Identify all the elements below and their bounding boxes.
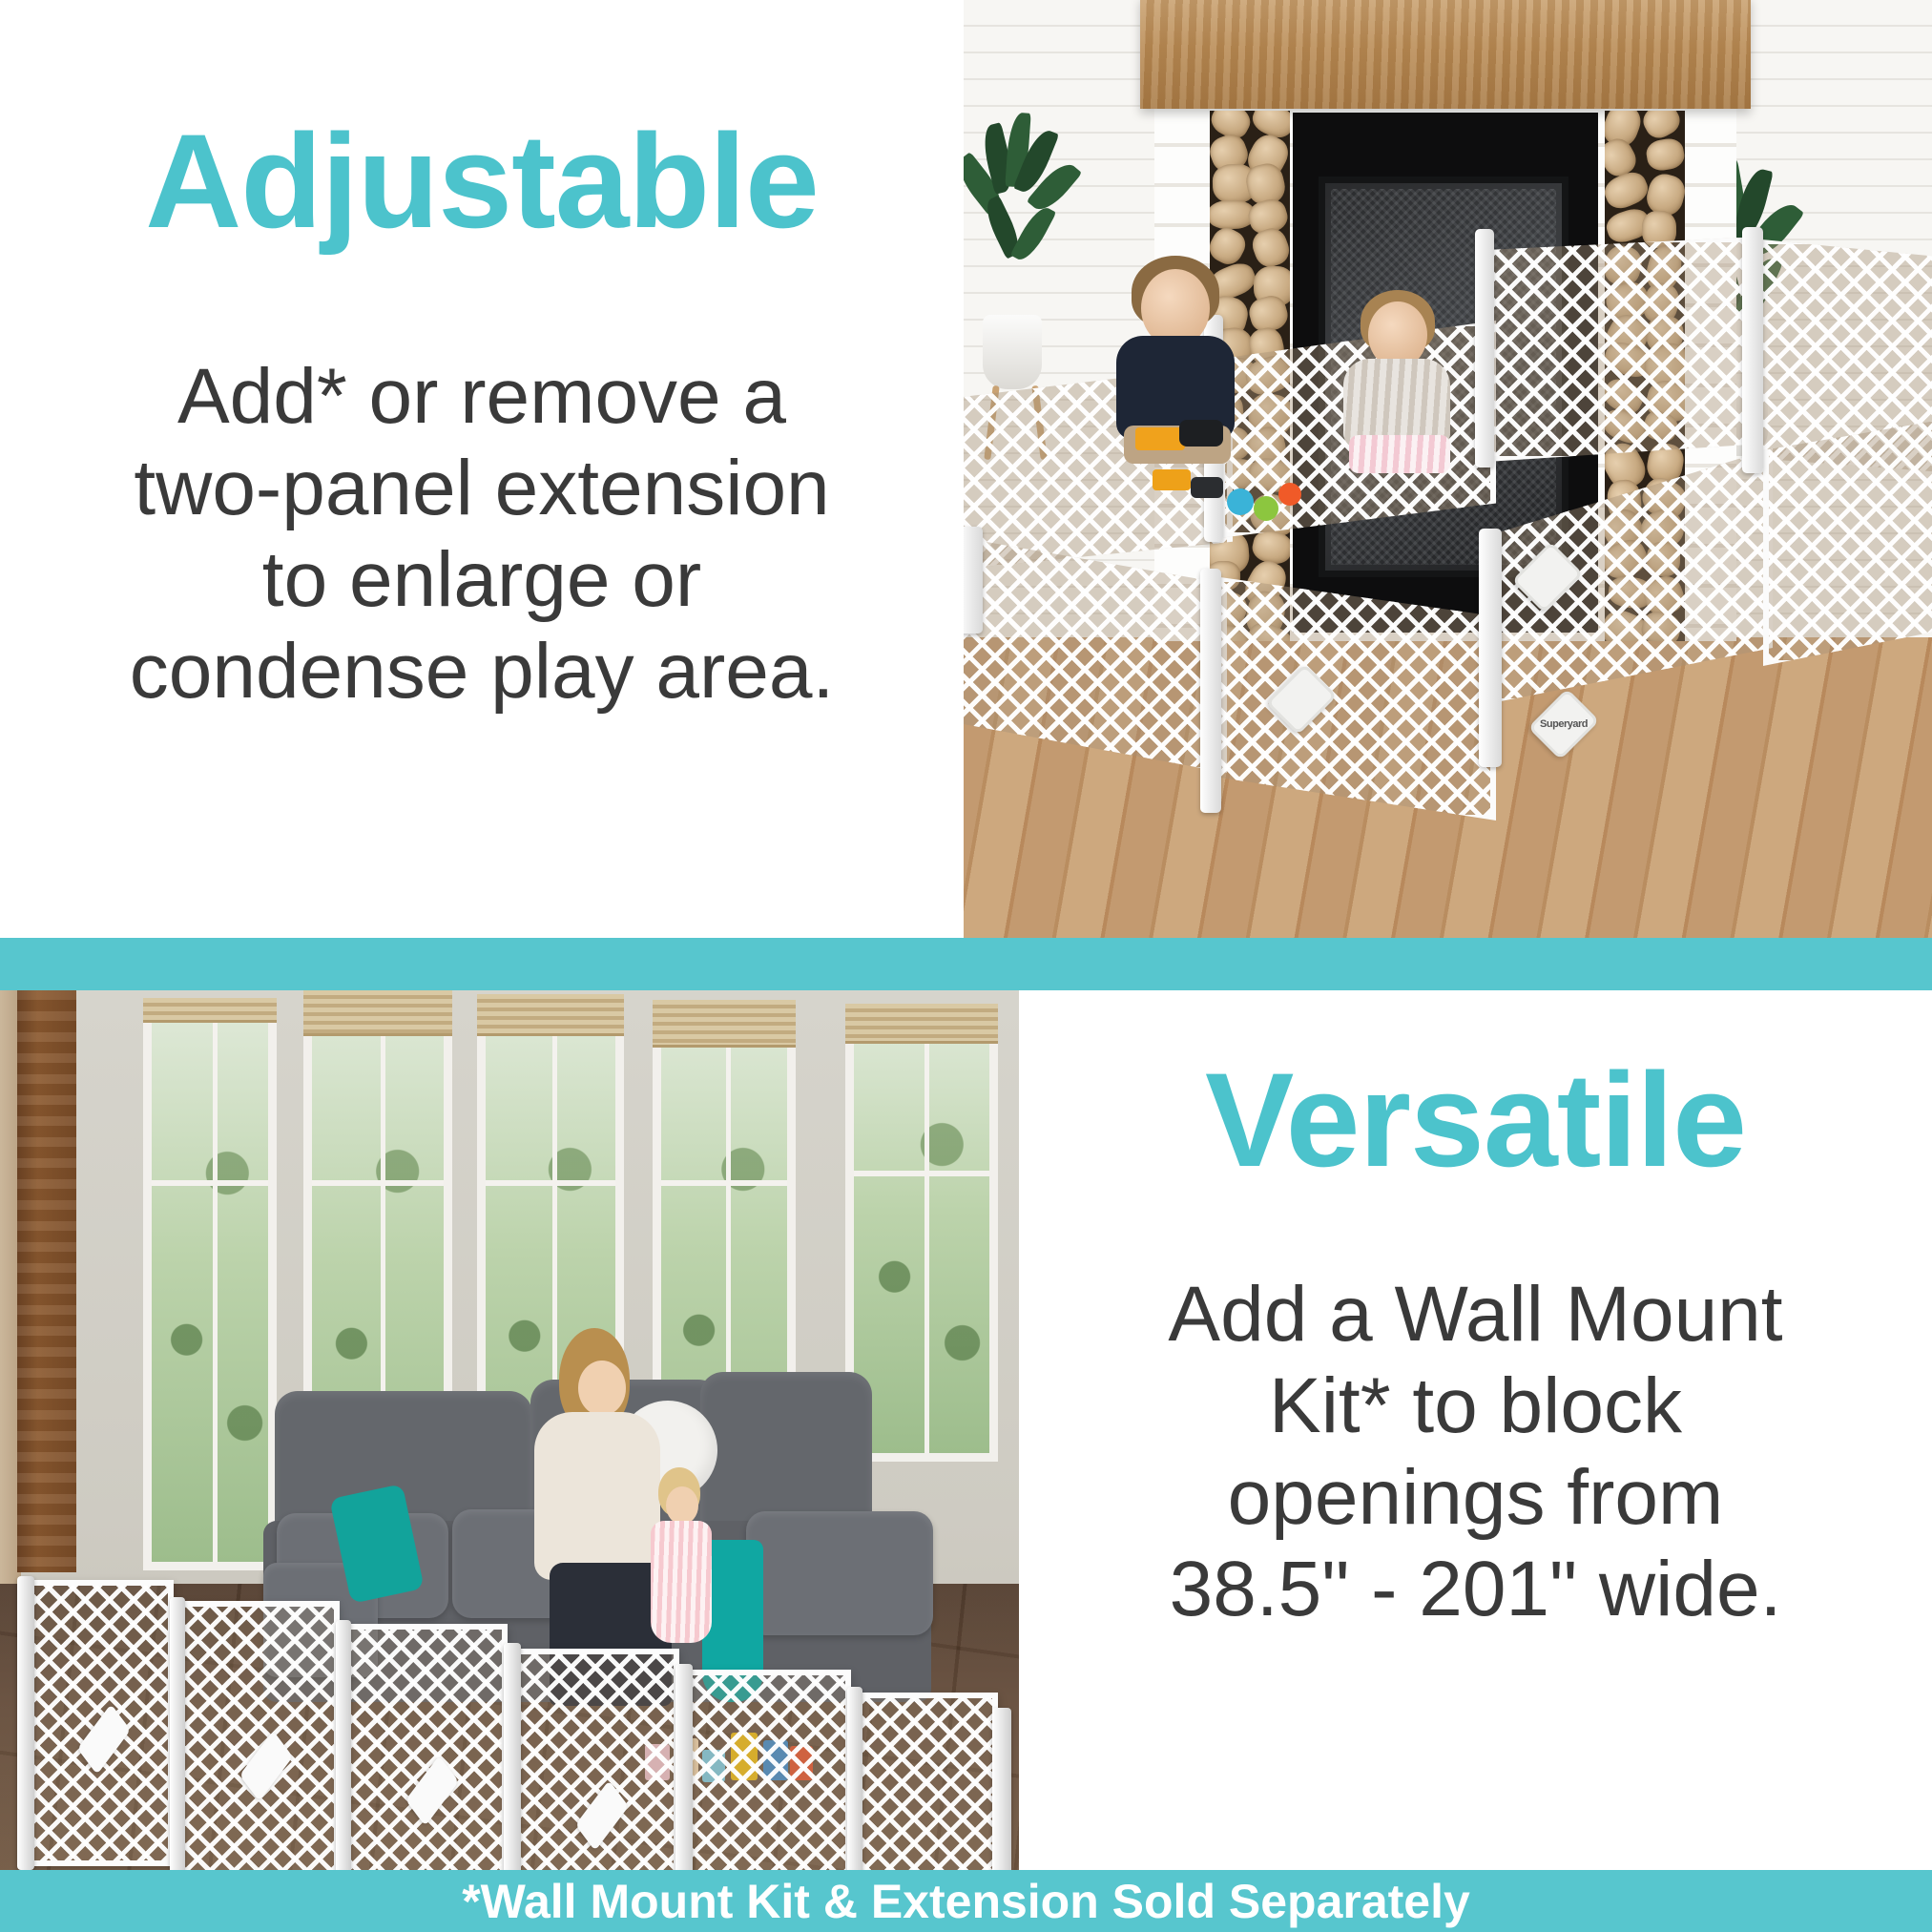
window-shade	[143, 998, 277, 1023]
versatile-text-panel: Versatile Add a Wall Mount Kit* to block…	[1019, 990, 1932, 1870]
sofa-chaise-cushion	[746, 1511, 933, 1635]
versatile-body-line-1: Add a Wall Mount	[1168, 1269, 1782, 1361]
window-mullion	[312, 1180, 444, 1186]
gate-panel-2	[177, 1601, 340, 1870]
gate-hinge	[336, 1620, 351, 1870]
toy	[1135, 427, 1185, 450]
dark-wood-post	[17, 990, 76, 1572]
pen-post-back-b	[1475, 229, 1494, 467]
pen-panel-back-center	[1486, 237, 1761, 462]
toy	[1227, 488, 1254, 515]
pen-panel-right-side	[1763, 416, 1932, 666]
window-mullion	[924, 1012, 929, 1453]
toy	[1254, 496, 1278, 521]
mother-face	[578, 1361, 626, 1416]
window-shade	[303, 990, 452, 1036]
pen-post-front-a	[1200, 569, 1221, 813]
firewood-log	[1645, 136, 1685, 173]
adjustable-body-line-1: Add* or remove a	[130, 351, 835, 443]
pen-post-corner-left	[964, 527, 983, 634]
adjustable-body-line-3: to enlarge or	[130, 534, 835, 626]
window-mullion	[213, 1007, 218, 1562]
footer-disclaimer-text: *Wall Mount Kit & Extension Sold Separat…	[462, 1874, 1470, 1929]
gate-end-post	[992, 1708, 1011, 1870]
adjustable-body-copy: Add* or remove a two-panel extension to …	[130, 351, 835, 717]
window-mullion	[661, 1180, 787, 1186]
window-mullion	[486, 1180, 615, 1186]
toy	[1191, 477, 1223, 498]
window-glass	[854, 1012, 989, 1453]
window-shade	[653, 1000, 796, 1048]
baby-dress	[651, 1521, 712, 1643]
versatile-heading: Versatile	[1205, 1053, 1746, 1187]
child-skirt	[1349, 435, 1450, 473]
baby-face	[666, 1486, 698, 1525]
window-shade	[477, 994, 624, 1036]
gate-panel-5	[683, 1670, 851, 1870]
gate-panel-6	[855, 1693, 998, 1870]
window-mullion	[152, 1180, 268, 1186]
firewood-log	[1210, 223, 1250, 269]
toy	[1179, 420, 1223, 447]
adjustable-body-line-2: two-panel extension	[130, 443, 835, 534]
window-mullion	[854, 1171, 989, 1176]
gate-hinge	[170, 1597, 185, 1870]
wood-mantel-beam	[1140, 0, 1751, 109]
gate-hinge	[504, 1643, 521, 1870]
footer-disclaimer-bar: *Wall Mount Kit & Extension Sold Separat…	[0, 1870, 1932, 1932]
adjustable-text-panel: Adjustable Add* or remove a two-panel ex…	[0, 0, 964, 938]
window-shade	[845, 1004, 998, 1044]
gate-hinge	[847, 1687, 862, 1870]
versatile-body-line-2: Kit* to block	[1168, 1361, 1782, 1452]
window	[143, 998, 277, 1570]
teal-divider-band	[0, 938, 1932, 990]
gate-hinge	[17, 1576, 34, 1870]
sofa-backrest	[700, 1372, 872, 1530]
gate-panel-3	[343, 1624, 508, 1870]
window-glass	[152, 1007, 268, 1562]
toy	[1278, 483, 1301, 506]
adjustable-body-line-4: condense play area.	[130, 626, 835, 717]
mother-torso	[534, 1412, 660, 1580]
sunroom-gate-photo	[0, 990, 1019, 1870]
gate-hinge	[675, 1664, 693, 1870]
infographic-canvas: Adjustable Add* or remove a two-panel ex…	[0, 0, 1932, 1932]
versatile-body-line-3: openings from	[1168, 1452, 1782, 1544]
versatile-body-copy: Add a Wall Mount Kit* to block openings …	[1168, 1269, 1782, 1635]
pen-brand-label: Superyard	[1544, 699, 1584, 749]
versatile-body-line-4: 38.5" - 201" wide.	[1168, 1544, 1782, 1635]
adjustable-heading: Adjustable	[145, 114, 819, 248]
toy	[1153, 469, 1191, 490]
pen-post-front-b	[1479, 529, 1502, 767]
pen-post-back-c	[1742, 227, 1763, 473]
firewood-log	[1638, 111, 1684, 143]
fireplace-playpen-photo: Superyard	[964, 0, 1932, 938]
plant-pot-left	[983, 315, 1042, 389]
